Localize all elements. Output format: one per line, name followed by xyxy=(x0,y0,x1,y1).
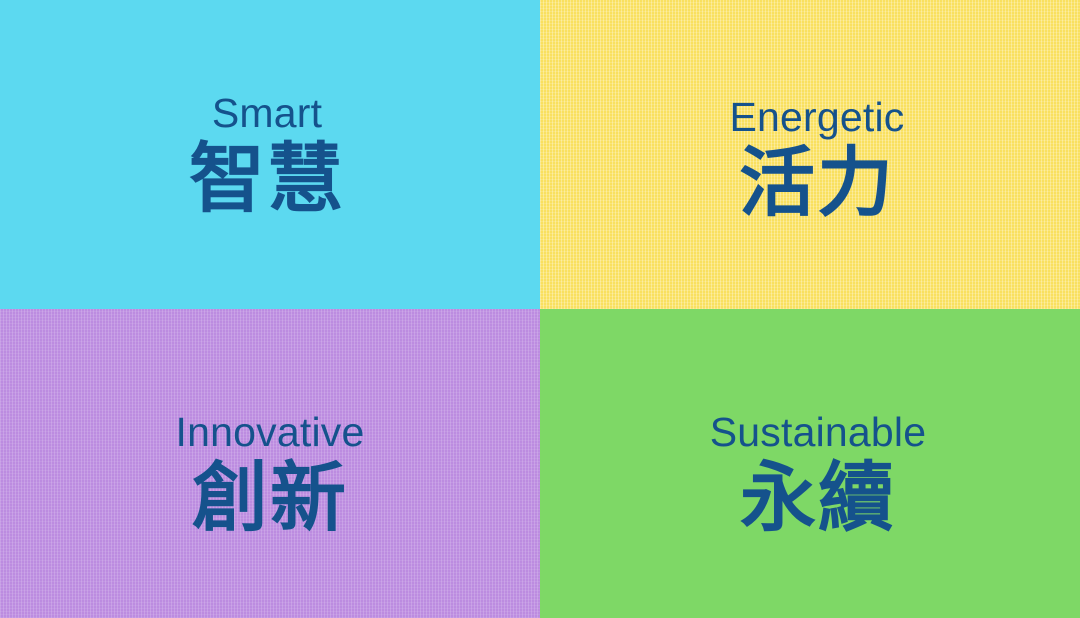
panel-label-zh-sustainable: 永續 xyxy=(710,458,926,539)
panel-label-zh-energetic: 活力 xyxy=(729,143,904,224)
panel-label-zh-smart: 智慧 xyxy=(189,139,345,220)
panel-sustainable[interactable]: Sustainable 永續 xyxy=(540,309,1080,618)
panel-innovative[interactable]: Innovative 創新 xyxy=(0,309,540,618)
word-block-smart: Smart 智慧 xyxy=(189,92,345,220)
panel-label-en-smart: Smart xyxy=(189,92,345,135)
word-block-innovative: Innovative 創新 xyxy=(176,411,365,539)
panel-label-en-innovative: Innovative xyxy=(176,411,365,454)
word-block-sustainable: Sustainable 永續 xyxy=(710,411,926,539)
panel-smart[interactable]: Smart 智慧 xyxy=(0,0,540,309)
panel-label-en-energetic: Energetic xyxy=(729,96,904,139)
panel-energetic[interactable]: Energetic 活力 xyxy=(540,0,1080,309)
brand-values-poster: Smart 智慧 Energetic 活力 Innovative 創新 Sust… xyxy=(0,0,1080,618)
word-block-energetic: Energetic 活力 xyxy=(729,96,904,224)
panel-label-en-sustainable: Sustainable xyxy=(710,411,926,454)
panel-label-zh-innovative: 創新 xyxy=(176,458,365,539)
